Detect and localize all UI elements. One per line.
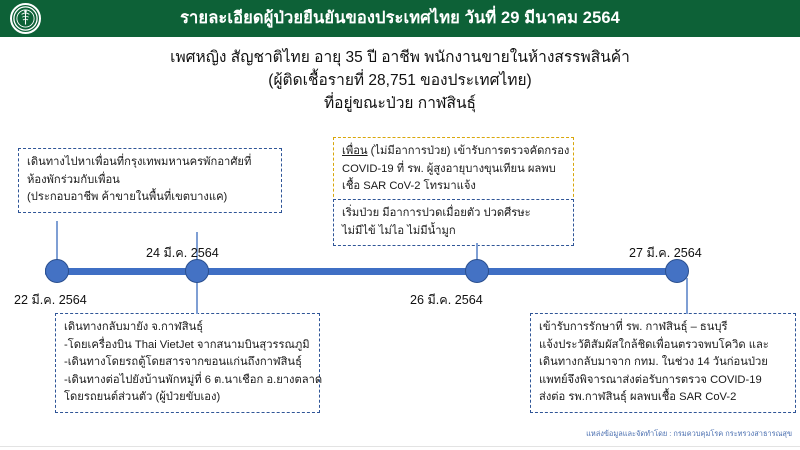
note-friend-positive-line-1: เพื่อน (ไม่มีอาการป่วย) เข้ารับการตรวจคั… [342,143,566,161]
note-hospital-admission: เข้ารับการรักษาที่ รพ. กาฬสินธุ์ – ธนบุร… [530,313,796,413]
timeline-connector-1 [56,221,58,263]
note-symptom-onset: เริ่มป่วย มีอาการปวดเมื่อยตัว ปวดศีรษะ ไ… [333,199,574,246]
footer-divider [0,446,800,447]
note-symptom-onset-line-2: ไม่มีไข้ ไม่ไอ ไม่มีน้ำมูก [342,223,566,241]
timeline-date-3: 26 มี.ค. 2564 [410,290,483,310]
note-travel-history: เดินทางกลับมายัง จ.กาฬสินธุ์ -โดยเครื่อง… [55,313,320,413]
note-friend-positive-line-1-rest: (ไม่มีอาการป่วย) เข้ารับการตรวจคัดกรอง [368,145,570,157]
timeline-bar [45,268,677,275]
note-hospital-admission-line-4: แพทย์จึงพิจารณาส่งต่อรับการตรวจ COVID-19 [539,372,788,390]
note-friend-positive-line-3: เชื้อ SAR CoV-2 โทรมาแจ้ง [342,178,566,196]
patient-residence: ที่อยู่ขณะป่วย กาฬสินธุ์ [0,92,800,115]
timeline-date-4: 27 มี.ค. 2564 [629,243,702,263]
infographic-canvas: รายละเอียดผู้ป่วยยืนยันของประเทศไทย วันท… [0,0,800,450]
source-attribution: แหล่งข้อมูลและจัดทำโดย : กรมควบคุมโรค กร… [586,428,792,440]
timeline-node-3[interactable] [465,259,489,283]
timeline-date-2: 24 มี.ค. 2564 [146,243,219,263]
timeline-date-1: 22 มี.ค. 2564 [14,290,87,310]
note-friend-keyword: เพื่อน [342,145,368,157]
note-hospital-admission-line-5: ส่งต่อ รพ.กาฬสินธุ์ ผลพบเชื้อ SAR CoV-2 [539,389,788,407]
note-travel-history-line-4: -เดินทางต่อไปยังบ้านพักหมู่ที่ 6 ต.นาเชื… [64,372,312,390]
note-top-left: เดินทางไปหาเพื่อนที่กรุงเทพมหานครพักอาศั… [18,148,282,213]
patient-demographics: เพศหญิง สัญชาติไทย อายุ 35 ปี อาชีพ พนัก… [0,46,800,69]
note-friend-positive-line-2: COVID-19 ที่ รพ. ผู้สูงอายุบางขุนเทียน ผ… [342,161,566,179]
note-hospital-admission-line-2: แจ้งประวัติสัมผัสใกล้ชิดเพื่อนตรวจพบโควิ… [539,337,788,355]
page-title: รายละเอียดผู้ป่วยยืนยันของประเทศไทย วันท… [0,0,800,37]
note-top-left-line-1: เดินทางไปหาเพื่อนที่กรุงเทพมหานครพักอาศั… [27,154,274,172]
note-top-left-line-2: ห้องพักร่วมกับเพื่อน [27,172,274,190]
note-travel-history-line-2: -โดยเครื่องบิน Thai VietJet จากสนามบินสุ… [64,337,312,355]
note-travel-history-line-3: -เดินทางโดยรถตู้โดยสารจากขอนแก่นถึงกาฬสิ… [64,354,312,372]
note-friend-positive: เพื่อน (ไม่มีอาการป่วย) เข้ารับการตรวจคั… [333,137,574,202]
patient-summary: เพศหญิง สัญชาติไทย อายุ 35 ปี อาชีพ พนัก… [0,46,800,115]
timeline-node-1[interactable] [45,259,69,283]
note-hospital-admission-line-3: เดินทางกลับมาจาก กทม. ในช่วง 14 วันก่อนป… [539,354,788,372]
timeline-connector-2b [196,278,198,314]
note-travel-history-line-1: เดินทางกลับมายัง จ.กาฬสินธุ์ [64,319,312,337]
timeline-connector-4 [686,278,688,314]
note-symptom-onset-line-1: เริ่มป่วย มีอาการปวดเมื่อยตัว ปวดศีรษะ [342,205,566,223]
note-hospital-admission-line-1: เข้ารับการรักษาที่ รพ. กาฬสินธุ์ – ธนบุร… [539,319,788,337]
note-travel-history-line-5: โดยรถยนต์ส่วนตัว (ผู้ป่วยขับเอง) [64,389,312,407]
patient-case-number: (ผู้ติดเชื้อรายที่ 28,751 ของประเทศไทย) [0,69,800,92]
note-top-left-line-3: (ประกอบอาชีพ ค้าขายในพื้นที่เขตบางแค) [27,189,274,207]
